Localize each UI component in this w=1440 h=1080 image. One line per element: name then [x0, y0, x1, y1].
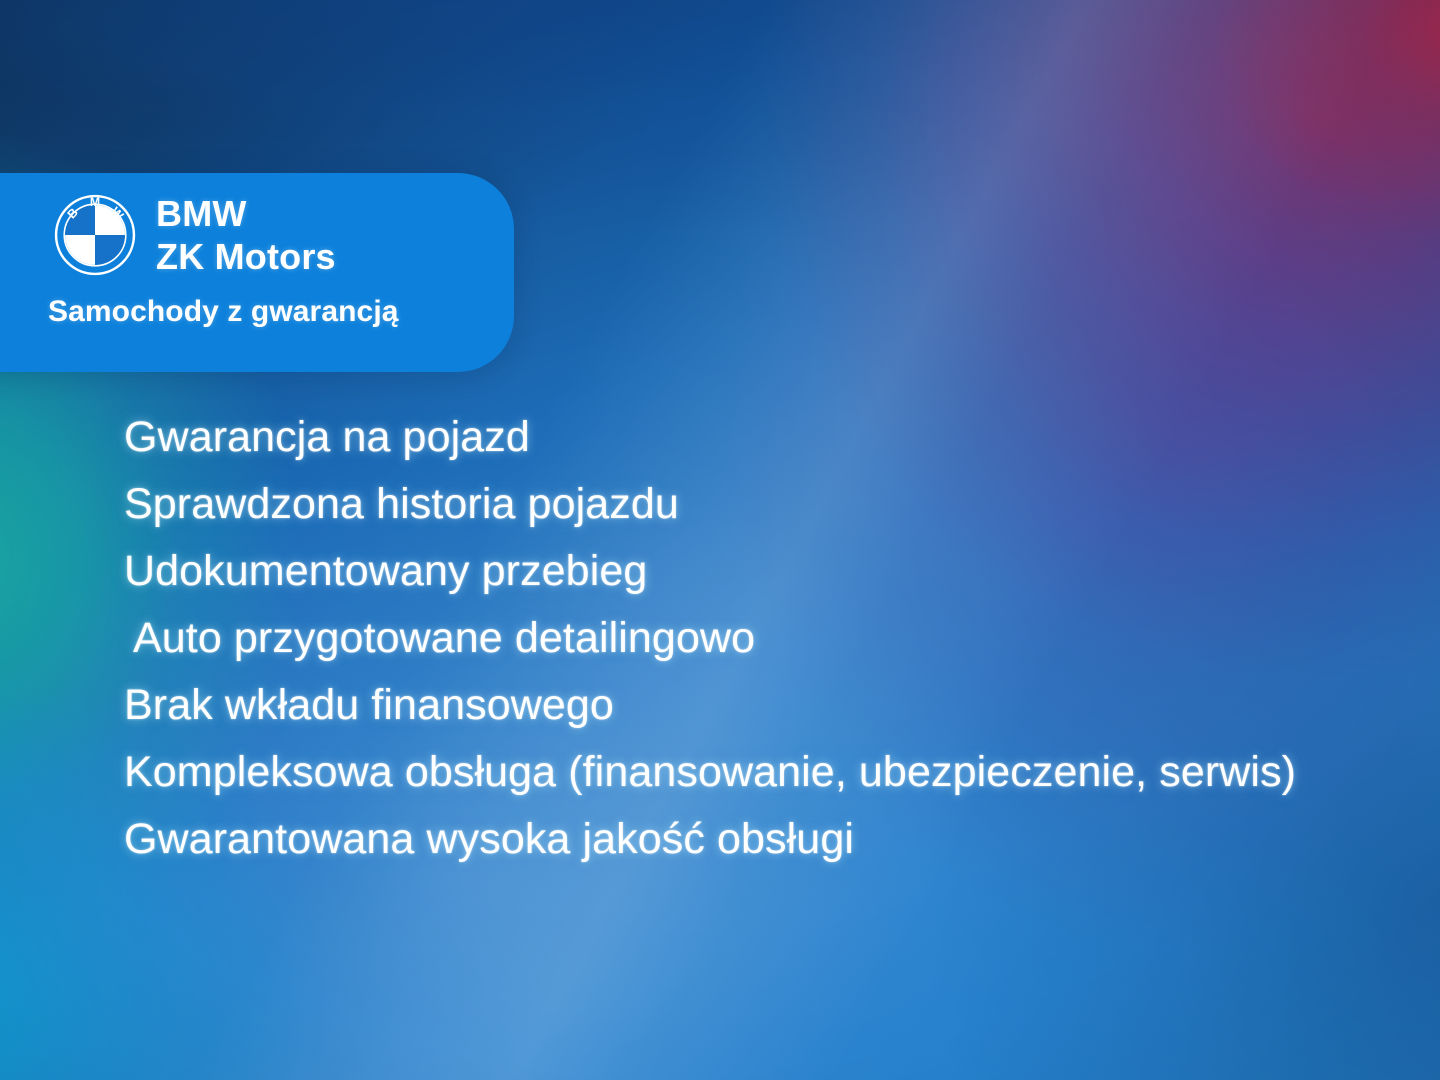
promo-poster: B M W BMW ZK Motors Samochody z gwarancj… [0, 0, 1440, 1080]
list-item: Brak wkładu finansowego [0, 672, 1440, 739]
brand-badge-header: B M W BMW ZK Motors [0, 173, 514, 287]
feature-label: Gwarantowana wysoka jakość obsługi [124, 815, 854, 864]
list-item: Sprawdzona historia pojazdu [0, 471, 1440, 538]
list-item: Gwarantowana wysoka jakość obsługi [0, 806, 1440, 873]
brand-badge: B M W BMW ZK Motors Samochody z gwarancj… [0, 173, 514, 372]
list-item: Udokumentowany przebieg [0, 538, 1440, 605]
brand-line-zk-motors: ZK Motors [156, 239, 336, 274]
feature-label: Udokumentowany przebieg [124, 547, 647, 596]
feature-label: Auto przygotowane detailingowo [133, 614, 755, 663]
feature-label: Gwarancja na pojazd [124, 413, 530, 462]
list-item: Auto przygotowane detailingowo [0, 605, 1440, 672]
feature-label: Kompleksowa obsługa (finansowanie, ubezp… [124, 748, 1296, 797]
list-item: Gwarancja na pojazd [0, 404, 1440, 471]
feature-list: Gwarancja na pojazd Sprawdzona historia … [0, 404, 1440, 873]
brand-tagline: Samochody z gwarancją [0, 295, 514, 329]
list-item: Kompleksowa obsługa (finansowanie, ubezp… [0, 739, 1440, 806]
brand-wordmark: BMW ZK Motors [156, 196, 336, 274]
bmw-roundel-icon: B M W [54, 194, 136, 276]
feature-label: Sprawdzona historia pojazdu [124, 480, 679, 529]
svg-text:M: M [90, 195, 100, 209]
feature-label: Brak wkładu finansowego [124, 681, 614, 730]
brand-line-bmw: BMW [156, 196, 336, 231]
